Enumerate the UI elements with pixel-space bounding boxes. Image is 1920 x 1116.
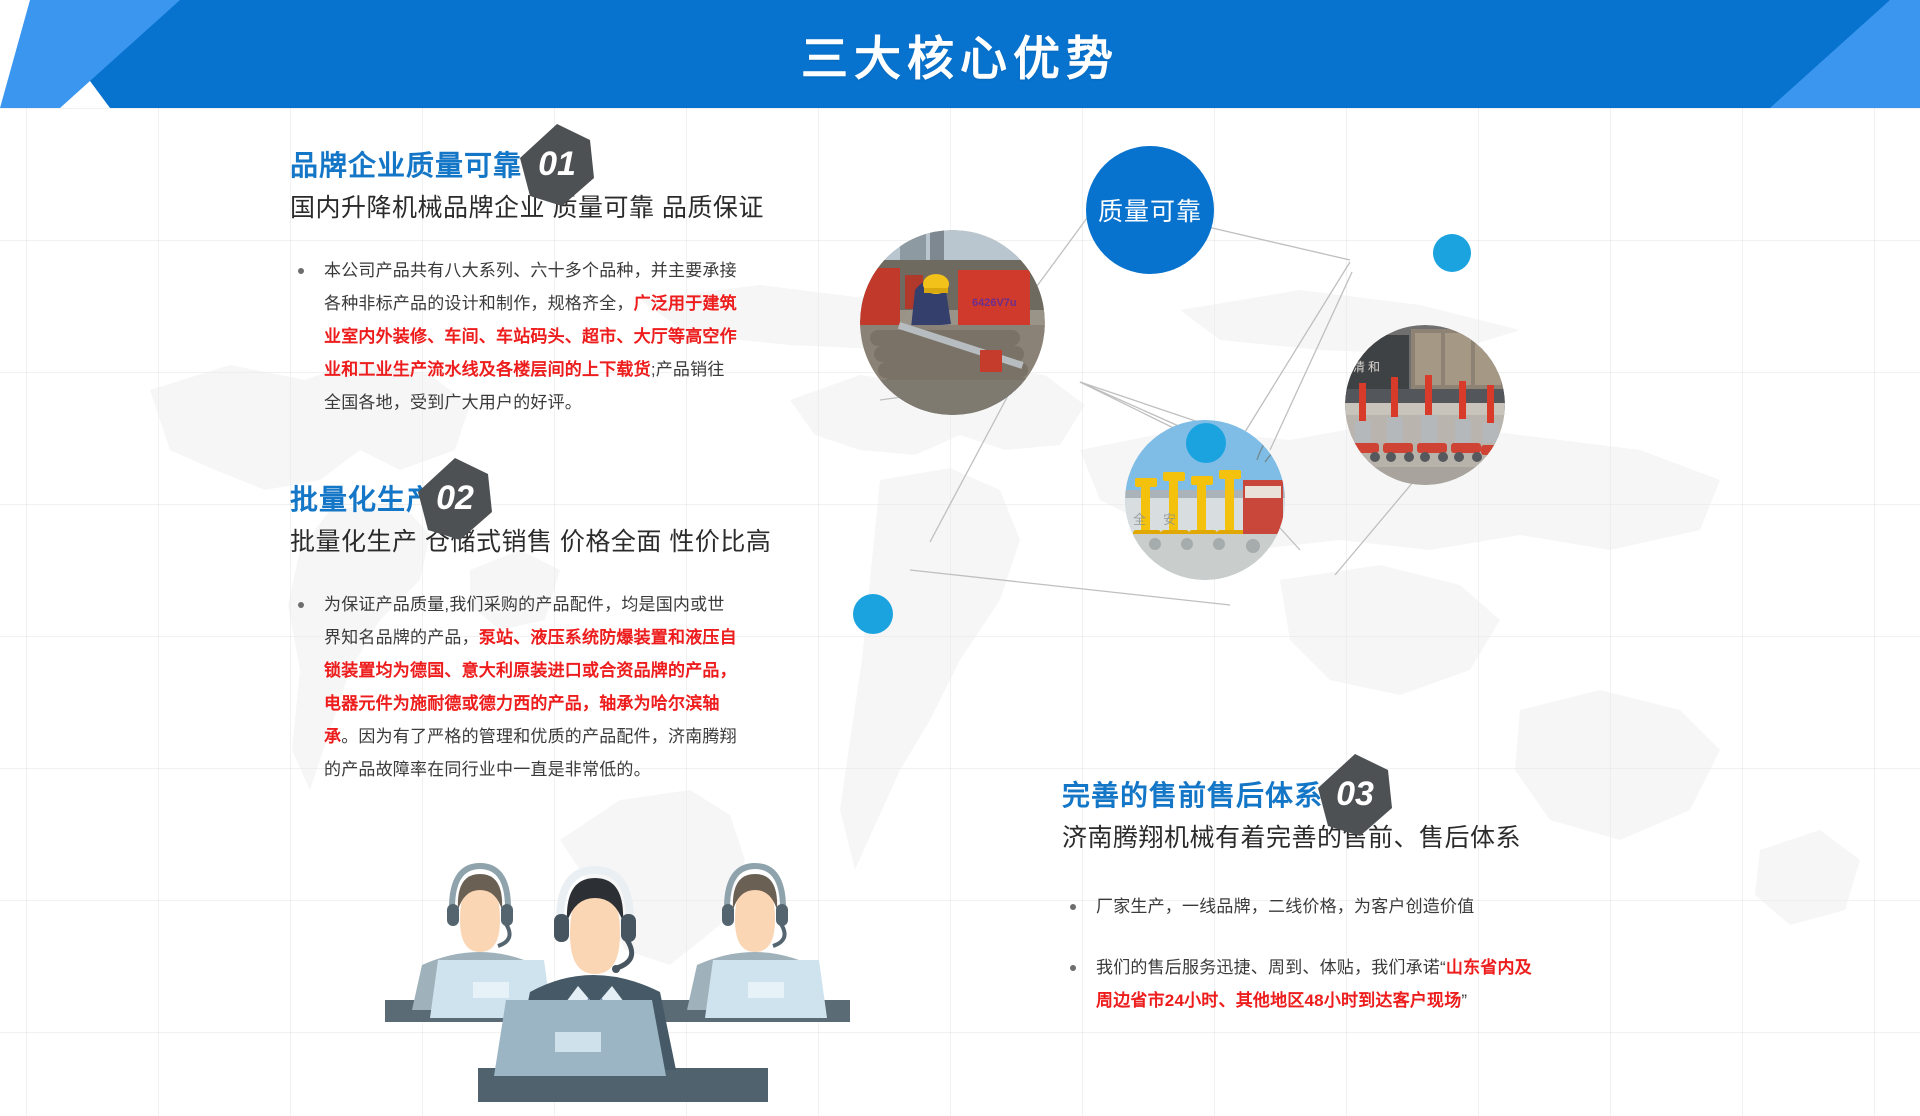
feature-01-bullets: 本公司产品共有八大系列、六十多个品种，并主要承接各种非标产品的设计和制作，规格齐… — [290, 254, 740, 419]
feature-03-number: 03 — [1318, 754, 1392, 836]
agent-right — [660, 866, 850, 1022]
feature-03-title: 完善的售前售后体系 — [1062, 778, 1323, 814]
feature-block-01: 品牌企业质量可靠 01 国内升降机械品牌企业 质量可靠 品质保证 本公司产品共有… — [290, 148, 740, 441]
feature-01-subtitle: 国内升降机械品牌企业 质量可靠 品质保证 — [290, 188, 740, 228]
svg-text:安: 安 — [1163, 512, 1176, 527]
feature-02-title: 批量化生产 — [290, 482, 435, 518]
list-item: 我们的售后服务迅捷、周到、体贴，我们承诺“山东省内及周边省市24小时、其他地区4… — [1062, 951, 1532, 1017]
feature-02-number: 02 — [418, 458, 492, 540]
feature-02-subtitle: 批量化生产 仓储式销售 价格全面 性价比高 — [290, 522, 740, 562]
feature-02-bullets: 为保证产品质量,我们采购的产品配件，均是国内或世界知名品牌的产品，泵站、液压系统… — [290, 588, 740, 786]
feature-03-number-badge: 03 — [1318, 754, 1392, 836]
svg-text:全: 全 — [1133, 512, 1146, 527]
feature-01-number-badge: 01 — [520, 124, 594, 206]
support-agents-graphic — [330, 800, 850, 1116]
body-text: ” — [1461, 991, 1467, 1010]
feature-01-heading: 品牌企业质量可靠 01 — [290, 148, 522, 184]
feature-block-02: 批量化生产 02 批量化生产 仓储式销售 价格全面 性价比高 为保证产品质量,我… — [290, 482, 740, 808]
list-item: 本公司产品共有八大系列、六十多个品种，并主要承接各种非标产品的设计和制作，规格齐… — [290, 254, 740, 419]
page-title: 三大核心优势 — [0, 0, 1920, 108]
bullet-rich-text: 为保证产品质量,我们采购的产品配件，均是国内或世界知名品牌的产品，泵站、液压系统… — [324, 595, 737, 779]
body-text: 我们的售后服务迅捷、周到、体贴，我们承诺“ — [1096, 958, 1446, 977]
feature-block-03: 完善的售前售后体系 03 济南腾翔机械有着完善的售前、售后体系 厂家生产，一线品… — [1062, 778, 1532, 1039]
network-dot-center — [1186, 423, 1226, 463]
customer-service-illustration — [330, 800, 850, 1116]
svg-text:清 和: 清 和 — [1353, 360, 1380, 374]
poster-page: 三大核心优势 — [0, 0, 1920, 1116]
body-text: 。因为有了严格的管理和优质的产品配件，济南腾翔的产品故障率在同行业中一直是非常低… — [324, 727, 737, 779]
header-banner: 三大核心优势 — [0, 0, 1920, 108]
quality-bubble: 质量可靠 — [1086, 146, 1214, 274]
feature-03-bullets: 厂家生产，一线品牌，二线价格，为客户创造价值 我们的售后服务迅捷、周到、体贴，我… — [1062, 890, 1532, 1017]
feature-01-title: 品牌企业质量可靠 — [290, 148, 522, 184]
network-dot-left — [853, 594, 893, 634]
body-text: 厂家生产，一线品牌，二线价格，为客户创造价值 — [1096, 897, 1474, 916]
photo-factory-worker: 6426V7u — [860, 230, 1045, 415]
feature-02-heading: 批量化生产 02 — [290, 482, 435, 518]
quality-network-infographic: 6426V7u — [880, 150, 1880, 670]
svg-text:6426V7u: 6426V7u — [972, 297, 1017, 309]
feature-01-number: 01 — [520, 124, 594, 206]
bullet-rich-text: 本公司产品共有八大系列、六十多个品种，并主要承接各种非标产品的设计和制作，规格齐… — [324, 261, 737, 412]
quality-bubble-label: 质量可靠 — [1098, 192, 1202, 228]
bullet-rich-text: 我们的售后服务迅捷、周到、体贴，我们承诺“山东省内及周边省市24小时、其他地区4… — [1096, 958, 1532, 1010]
list-item: 厂家生产，一线品牌，二线价格，为客户创造价值 — [1062, 890, 1532, 923]
feature-02-number-badge: 02 — [418, 458, 492, 540]
photo-lift-platform-showroom: 清 和 — [1345, 325, 1505, 485]
list-item: 为保证产品质量,我们采购的产品配件，均是国内或世界知名品牌的产品，泵站、液压系统… — [290, 588, 740, 786]
network-dot-right — [1433, 234, 1471, 272]
bullet-rich-text: 厂家生产，一线品牌，二线价格，为客户创造价值 — [1096, 897, 1474, 916]
feature-03-subtitle: 济南腾翔机械有着完善的售前、售后体系 — [1062, 818, 1532, 858]
feature-03-heading: 完善的售前售后体系 03 — [1062, 778, 1323, 814]
